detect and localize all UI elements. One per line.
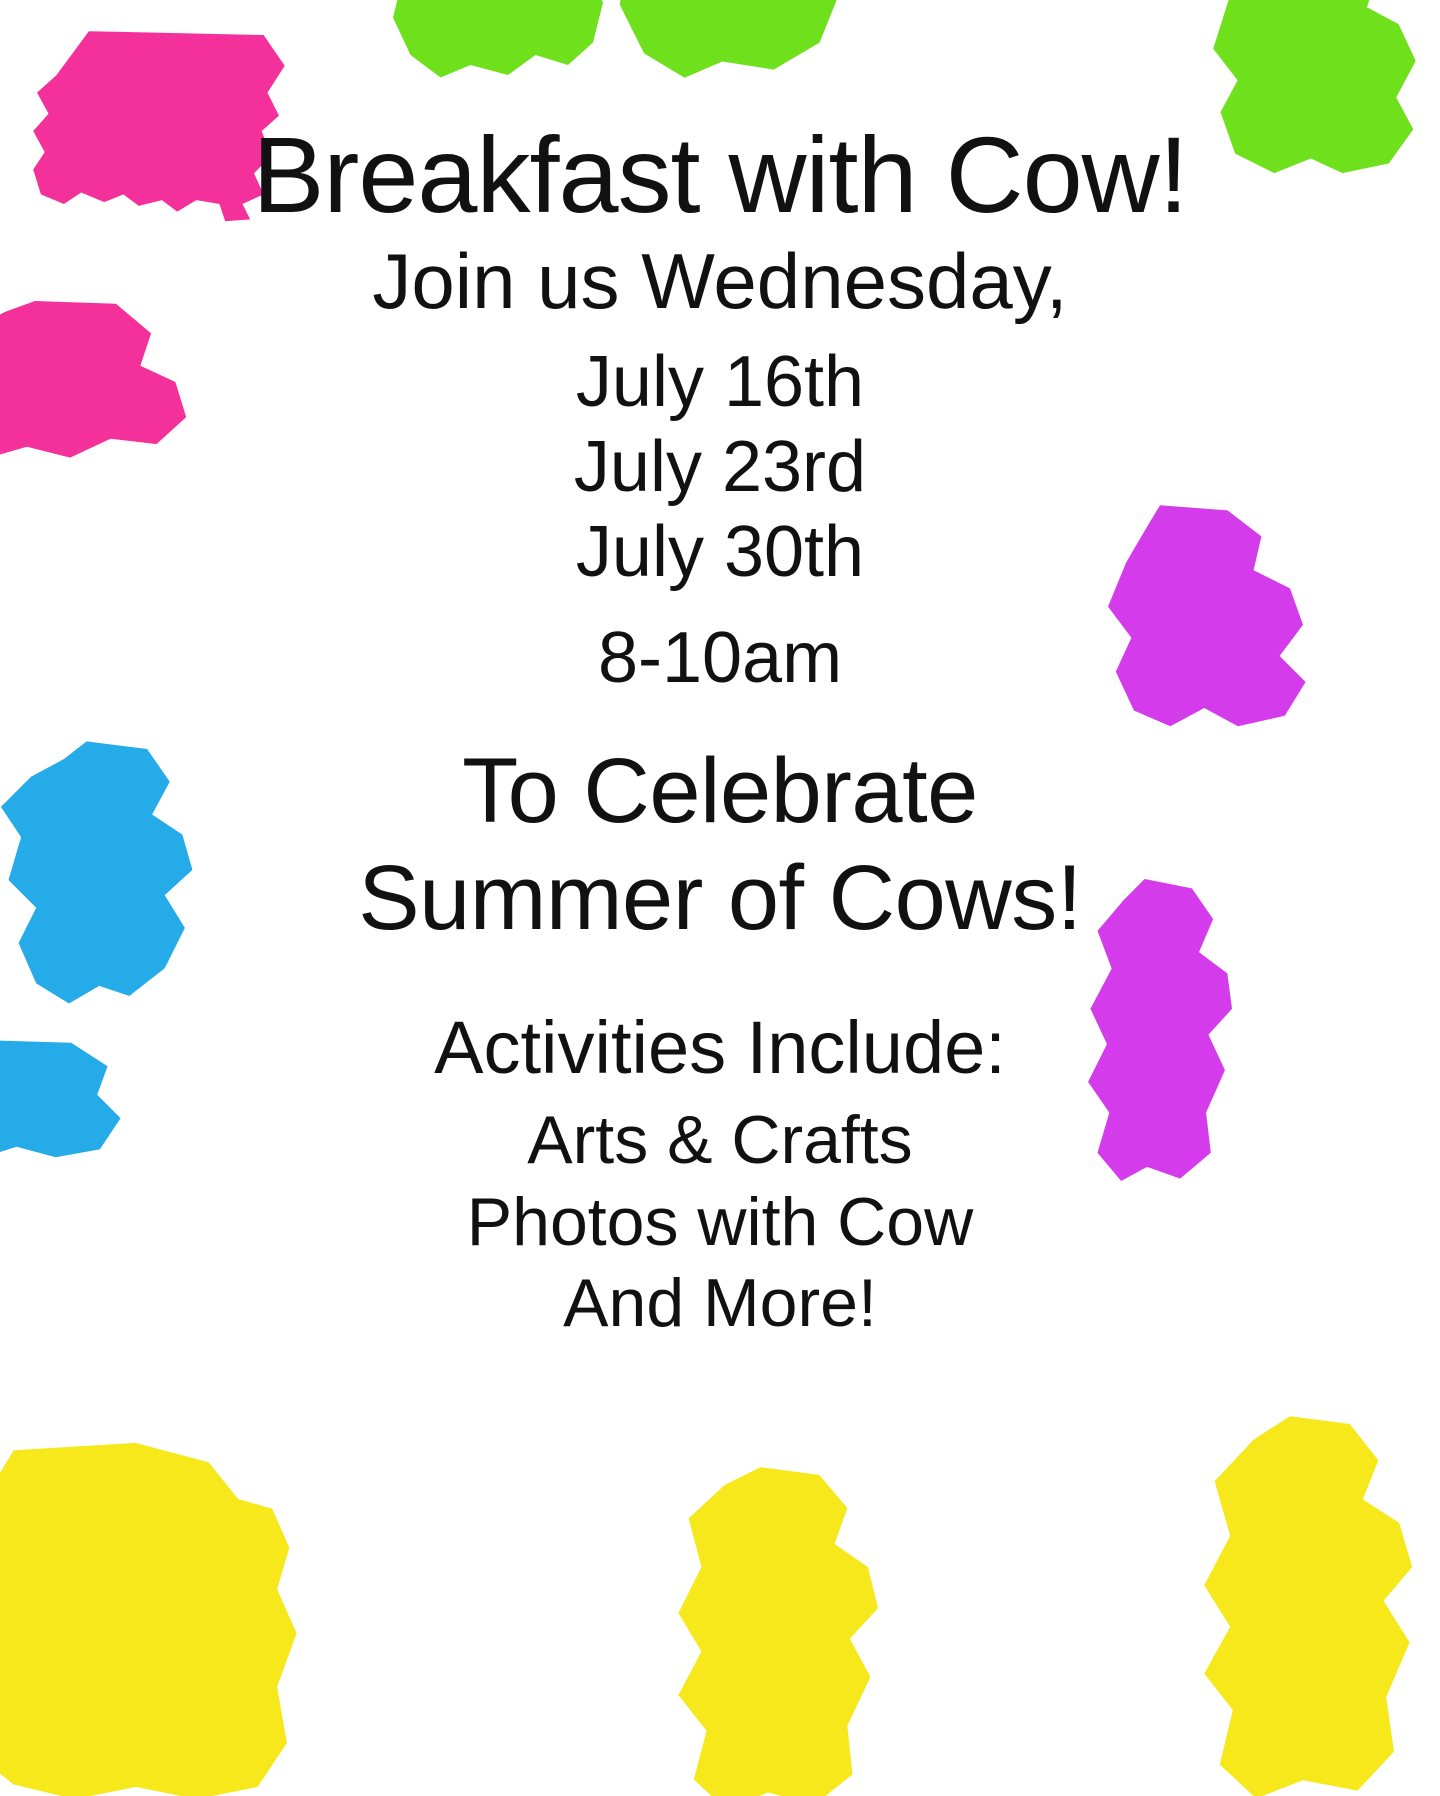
date-item-1: July 16th [574,340,866,425]
activities-heading: Activities Include: [434,1007,1006,1090]
subheading-join-us: Join us Wednesday, [372,238,1067,325]
celebrate-line-1: To Celebrate [358,738,1082,845]
activity-item-1: Arts & Crafts [467,1100,973,1182]
activity-item-2: Photos with Cow [467,1182,973,1264]
page-title: Breakfast with Cow! [252,118,1187,232]
date-item-2: July 23rd [574,425,866,510]
activities-list: Arts & Crafts Photos with Cow And More! [467,1100,973,1345]
event-time: 8-10am [598,619,842,698]
celebrate-block: To Celebrate Summer of Cows! [358,738,1082,951]
activity-item-3: And More! [467,1263,973,1345]
flyer-page: Breakfast with Cow! Join us Wednesday, J… [0,0,1440,1796]
flyer-content: Breakfast with Cow! Join us Wednesday, J… [0,0,1440,1796]
celebrate-line-2: Summer of Cows! [358,845,1082,952]
date-item-3: July 30th [574,510,866,595]
date-list: July 16th July 23rd July 30th [574,340,866,595]
